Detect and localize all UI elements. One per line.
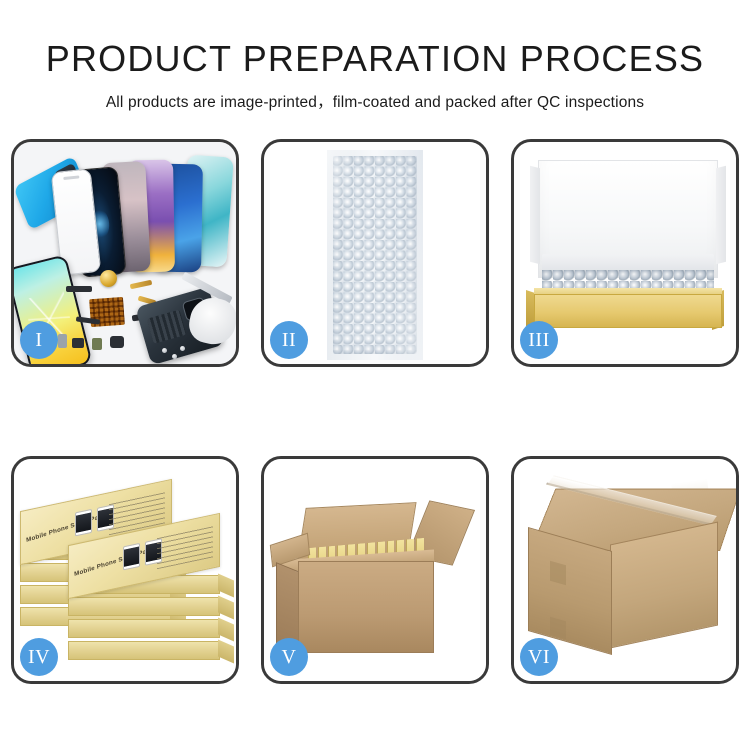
step-panel-1: I: [11, 139, 239, 367]
step-badge-6: VI: [520, 638, 558, 676]
step-panel-2: II: [261, 139, 489, 367]
step-panel-6: VI: [511, 456, 739, 684]
gold-chip-icon: [100, 270, 117, 287]
battery-connector-icon: [92, 338, 102, 350]
box-phone-artwork: [75, 509, 92, 537]
step-badge-3: III: [520, 321, 558, 359]
stacked-box: [68, 597, 220, 616]
box-label-text: Mobile Phone Spare Parts: [74, 546, 155, 578]
carton-side: [610, 522, 718, 649]
stacked-box: [68, 619, 220, 638]
flex-cable-icon: [66, 286, 92, 292]
gold-flex-cable-icon: [130, 280, 153, 289]
header: PRODUCT PREPARATION PROCESS All products…: [0, 0, 750, 112]
carton-front: [298, 561, 434, 653]
step-badge-2: II: [270, 321, 308, 359]
vibrator-motor-icon: [110, 336, 124, 348]
steps-grid: I II III: [11, 139, 739, 684]
screw-icon: [162, 348, 167, 353]
product-preparation-infographic: PRODUCT PREPARATION PROCESS All products…: [0, 0, 750, 750]
screw-icon: [180, 346, 185, 351]
step-badge-1: I: [20, 321, 58, 359]
step-panel-3: III: [511, 139, 739, 367]
page-title: PRODUCT PREPARATION PROCESS: [0, 38, 750, 80]
speaker-module-icon: [72, 338, 84, 348]
kraft-box-front: [534, 294, 722, 328]
sim-tray-icon: [58, 334, 67, 348]
step-panel-4: Mobile Phone Spare Parts Mobile Phone Sp…: [11, 456, 239, 684]
screw-icon: [172, 354, 177, 359]
box-phone-artwork: [123, 543, 140, 571]
step-badge-4: IV: [20, 638, 58, 676]
carton-tab: [550, 561, 566, 586]
page-subtitle: All products are image-printed，film-coat…: [0, 90, 750, 112]
stacked-box: [68, 641, 220, 660]
step-badge-5: V: [270, 638, 308, 676]
step-panel-5: V: [261, 456, 489, 684]
box-spec-lines: [157, 523, 213, 569]
plastic-sheen: [327, 150, 423, 360]
